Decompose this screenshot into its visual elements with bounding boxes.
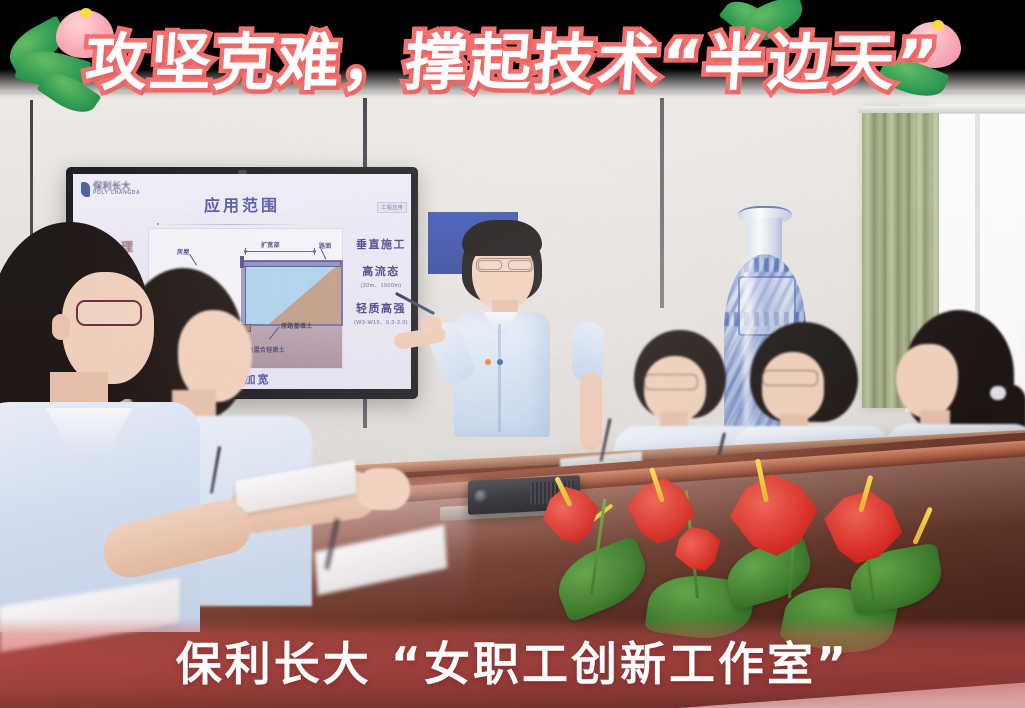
label-widening: 扩宽部 bbox=[261, 240, 280, 249]
diagram-post bbox=[240, 256, 244, 268]
attendee-glasses bbox=[76, 300, 142, 326]
attendee-hair-tie bbox=[990, 386, 1006, 400]
attendee-face bbox=[762, 352, 824, 422]
anthurium-flower bbox=[535, 480, 608, 550]
slide-corner-tag: 工程应用 bbox=[377, 202, 407, 213]
slide-title: 应用范围 bbox=[73, 192, 411, 216]
caption-text: 保利长大 “女职工创新工作室” bbox=[0, 628, 1025, 694]
attendee-face bbox=[896, 344, 958, 418]
slide-side-points: 垂直施工 高流态 (30m、1500m) 轻质高强 (W3-W15、0.3-2.… bbox=[351, 236, 411, 337]
attendee-front-left bbox=[0, 222, 240, 622]
projector-lens-icon bbox=[474, 489, 489, 505]
presenter-pointing-hand bbox=[420, 316, 442, 333]
anthurium-centerpiece bbox=[520, 480, 940, 640]
attendee-glasses bbox=[644, 374, 698, 390]
side-point-3-sub: (W3-W15、0.3-2.0) bbox=[351, 318, 411, 326]
attendee-glasses bbox=[762, 370, 818, 386]
vase-band bbox=[724, 258, 806, 272]
presenter-fringe bbox=[462, 220, 542, 256]
presenter-badge-icon bbox=[485, 359, 491, 365]
ceiling-band bbox=[0, 92, 1025, 101]
spadix bbox=[912, 506, 933, 545]
poster-root: 保利长大 POLY CHANGDA 应用范围 工程应用 软基处理 bbox=[0, 0, 1025, 708]
side-point-1-main: 垂直施工 bbox=[351, 236, 411, 252]
attendee-hand bbox=[356, 468, 410, 510]
side-point-3-main: 轻质高强 bbox=[351, 300, 411, 316]
leaf bbox=[548, 535, 655, 623]
presenter-glasses bbox=[476, 258, 534, 272]
side-point-2-main: 高流态 bbox=[351, 263, 411, 279]
anthurium-flower bbox=[723, 471, 824, 559]
presenter-placket bbox=[498, 324, 501, 432]
presenter-badge-icon bbox=[497, 359, 503, 365]
label-pavement: 路面 bbox=[319, 241, 332, 250]
side-point-2-sub: (30m、1500m) bbox=[351, 281, 411, 289]
diagram-dimension-line bbox=[245, 251, 315, 252]
attendee-ear bbox=[52, 314, 70, 340]
attendee-face bbox=[62, 272, 154, 384]
diagram-dimension-dot bbox=[313, 250, 316, 253]
wall-seam bbox=[660, 98, 664, 308]
caption-banner: 保利长大 “女职工创新工作室” bbox=[0, 618, 1025, 708]
curtain-rod bbox=[858, 106, 1025, 113]
presenter-right-arm bbox=[580, 372, 602, 450]
diagram-dimension-dot bbox=[244, 250, 247, 253]
diagram-pavement-layer bbox=[241, 261, 341, 267]
conference-room-photo: 保利长大 POLY CHANGDA 应用范围 工程应用 软基处理 bbox=[0, 0, 1025, 708]
